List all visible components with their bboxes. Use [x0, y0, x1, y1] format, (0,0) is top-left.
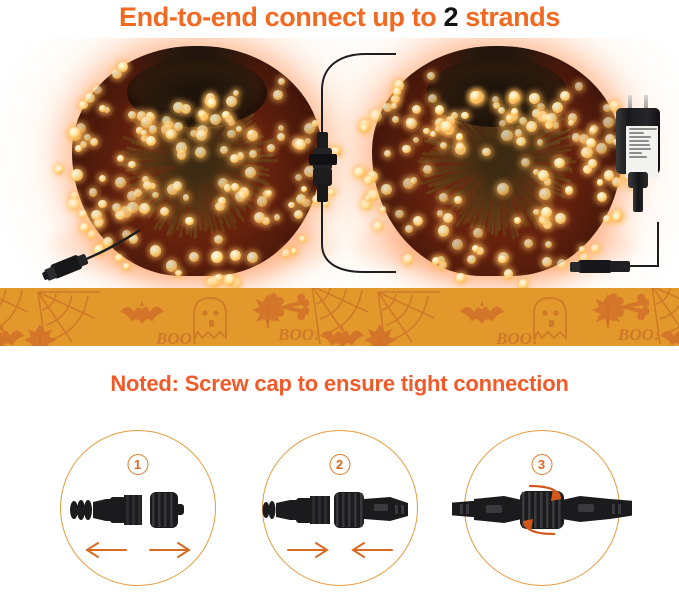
led-bulb: [173, 102, 184, 113]
wire-spike: [422, 152, 572, 171]
led-bulb: [515, 129, 523, 137]
led-bulb: [245, 167, 256, 178]
led-bulb: [91, 210, 102, 221]
led-bulb: [99, 105, 106, 112]
led-bulb: [211, 251, 223, 263]
led-bulb: [560, 91, 570, 101]
led-bulb: [173, 181, 183, 191]
led-bulb: [266, 190, 272, 196]
wire-spike: [421, 152, 572, 169]
connector-art-step-2: [250, 476, 430, 536]
led-bulb: [440, 142, 447, 149]
led-bulb: [413, 137, 420, 144]
led-bulb: [597, 179, 603, 185]
step-arrows-1: [48, 536, 228, 566]
led-bulb: [183, 194, 189, 200]
led-bulb: [432, 257, 440, 265]
led-bulb: [224, 274, 236, 286]
led-bulb: [456, 273, 466, 283]
led-bulb: [430, 131, 436, 137]
led-bulb: [215, 274, 223, 282]
headline-text-before: End-to-end connect up to: [119, 2, 443, 32]
led-bulb: [504, 269, 513, 278]
led-bulb: [545, 241, 552, 248]
adapter-label-line: [629, 148, 651, 150]
led-bulb: [146, 136, 156, 146]
led-bulb: [603, 104, 611, 112]
wire-spike: [418, 159, 576, 164]
led-bulb: [452, 239, 463, 250]
led-bulb: [402, 145, 411, 154]
led-bulb: [98, 200, 107, 209]
led-bulb: [291, 248, 298, 255]
steps-row: 1: [0, 424, 679, 592]
led-bulb: [514, 217, 521, 224]
led-bulb: [222, 111, 230, 119]
led-bulb: [526, 121, 537, 132]
led-bulb: [55, 165, 64, 174]
led-bulb: [537, 139, 543, 145]
led-bulb: [437, 210, 443, 216]
led-bulb: [470, 91, 480, 101]
led-bulb: [501, 130, 512, 141]
led-bulb: [175, 270, 181, 276]
adapter-label-line: [629, 156, 647, 158]
step-separate: 1: [48, 424, 228, 590]
led-bulb: [230, 250, 240, 260]
led-bulb: [189, 252, 199, 262]
led-bulb: [516, 137, 526, 147]
led-bulb: [533, 209, 539, 215]
led-bulb: [539, 188, 551, 200]
led-bulb: [160, 207, 170, 217]
led-bulb: [248, 130, 254, 136]
led-bulb: [90, 138, 98, 146]
led-bulb: [441, 121, 452, 132]
led-bulb: [552, 102, 563, 113]
led-bulb: [581, 147, 592, 158]
note-heading: Noted: Screw cap to ensure tight connect…: [0, 371, 679, 397]
led-bulb: [185, 217, 194, 226]
led-bulb: [575, 82, 583, 90]
led-bulb: [506, 115, 513, 122]
middle-connector: [300, 48, 400, 278]
led-bulb: [89, 188, 97, 196]
led-bulb: [403, 254, 414, 265]
adapter-tip: [633, 186, 643, 212]
led-bulb: [278, 125, 284, 131]
led-bulb: [435, 105, 445, 115]
led-bulb: [220, 146, 228, 154]
led-bulb: [511, 108, 519, 116]
led-bulb: [214, 235, 223, 244]
led-bulb: [541, 207, 552, 218]
headline-strand-count: 2: [444, 2, 459, 32]
led-bulb: [467, 255, 476, 264]
led-bulb: [247, 252, 258, 263]
led-bulb: [227, 130, 235, 138]
wire-spike: [421, 148, 573, 174]
led-bulb: [473, 228, 483, 238]
adapter-label-line: [629, 128, 657, 130]
wire-spike: [129, 139, 266, 182]
adapter-rating-label: [626, 126, 658, 178]
step-arrows-2: [250, 536, 430, 566]
wire-spike: [423, 145, 571, 177]
led-bulb: [149, 125, 157, 133]
led-bulb: [572, 133, 580, 141]
adapter-label-line: [629, 136, 651, 138]
led-bulb: [288, 202, 295, 209]
wire-spike: [433, 129, 561, 193]
led-bulb: [521, 158, 530, 167]
step-join: 2: [250, 424, 430, 590]
led-bulb: [143, 181, 152, 190]
adapter-brick: [616, 108, 660, 174]
wire-spike: [130, 140, 264, 182]
adapter-label-line: [629, 144, 650, 146]
led-bulb: [412, 105, 421, 114]
led-bulb: [589, 127, 596, 134]
led-bulb: [166, 260, 177, 271]
led-bulb: [93, 86, 101, 94]
led-bulb: [257, 196, 267, 206]
led-bulb: [406, 118, 417, 129]
led-bulb: [71, 169, 83, 181]
wire-spike: [420, 150, 574, 171]
led-bulb: [75, 145, 81, 151]
led-bulb: [218, 197, 226, 205]
end-plug-left: [40, 220, 150, 288]
power-adapter: [612, 96, 664, 196]
led-bulb: [127, 202, 139, 214]
wire-spike: [423, 148, 572, 174]
wire-spike: [439, 115, 554, 206]
led-bulb: [423, 165, 432, 174]
connector-art-step-3: [452, 476, 632, 536]
led-bulb: [235, 191, 246, 202]
product-infographic: End-to-end connect up to 2 strands: [0, 0, 679, 592]
wire-spike: [423, 157, 572, 166]
led-bulb: [274, 214, 281, 221]
led-bulb: [554, 158, 565, 169]
adapter-label-line: [629, 132, 644, 134]
led-bulb: [226, 96, 237, 107]
led-bulb: [597, 192, 608, 203]
wire-spike: [419, 157, 575, 165]
led-bulb: [438, 225, 450, 237]
led-bulb: [413, 216, 423, 226]
led-bulb: [519, 117, 527, 125]
connector-art-step-1: [48, 476, 228, 536]
led-bulb: [456, 142, 465, 151]
wire-spike: [124, 159, 271, 164]
led-bulb: [128, 161, 136, 169]
step-badge-1: 1: [127, 454, 148, 475]
led-bulb: [236, 126, 242, 132]
led-bulb: [555, 213, 565, 223]
hero-image: [0, 38, 679, 288]
step-tighten: 3: [452, 424, 632, 590]
wire-spike: [116, 160, 278, 163]
led-bulb: [79, 210, 87, 218]
led-bulb: [588, 159, 597, 168]
led-bulb: [443, 213, 453, 223]
step-badge-2: 2: [329, 454, 350, 475]
led-bulb: [166, 129, 176, 139]
led-bulb: [68, 198, 80, 210]
led-bulb: [273, 90, 283, 100]
wire-spike: [417, 159, 577, 163]
led-bulb: [99, 175, 106, 182]
led-bulb: [423, 128, 429, 134]
led-bulb: [249, 150, 257, 158]
led-bulb: [509, 91, 519, 101]
led-bulb: [454, 196, 462, 204]
led-bulb: [529, 93, 540, 104]
led-bulb: [210, 114, 221, 125]
led-bulb: [267, 144, 275, 152]
led-bulb: [152, 192, 159, 199]
led-bulb: [586, 138, 596, 148]
led-bulb: [84, 134, 91, 141]
led-bulb: [497, 183, 508, 194]
led-bulb: [405, 225, 413, 233]
page-title: End-to-end connect up to 2 strands: [0, 2, 679, 33]
led-bulb: [278, 78, 285, 85]
led-bulb: [596, 143, 607, 154]
led-bulb: [231, 183, 239, 191]
led-bulb: [115, 177, 127, 189]
led-bulb: [69, 127, 81, 139]
led-bulb: [568, 120, 575, 127]
led-bulb: [439, 193, 448, 202]
led-bulb: [128, 111, 137, 120]
adapter-label-line: [629, 152, 642, 154]
led-bulb: [472, 245, 479, 252]
led-bulb: [118, 62, 128, 72]
strand-plug-right: [566, 216, 676, 280]
led-bulb: [127, 191, 137, 201]
led-bulb: [230, 154, 239, 163]
wire-spike: [429, 149, 566, 172]
led-bulb: [150, 245, 161, 256]
led-bulb: [85, 93, 95, 103]
led-bulb: [519, 279, 528, 288]
led-bulb: [174, 122, 183, 131]
led-bulb: [207, 98, 216, 107]
halloween-pattern-band: BOO!: [0, 288, 679, 346]
led-bulb: [524, 239, 533, 248]
led-bulb: [482, 148, 490, 156]
led-bulb: [411, 177, 417, 183]
headline-text-after: strands: [458, 2, 560, 32]
led-bulb: [565, 186, 573, 194]
led-bulb: [456, 133, 463, 140]
step-badge-3: 3: [531, 454, 552, 475]
step-arrows-3: [452, 536, 632, 566]
led-bulb: [277, 133, 285, 141]
wire-spike: [432, 154, 562, 169]
led-bulb: [139, 203, 150, 214]
wire-spike: [125, 157, 270, 166]
adapter-label-line: [629, 140, 649, 142]
led-bulb: [117, 155, 124, 162]
led-bulb: [196, 130, 207, 141]
led-bulb: [195, 147, 207, 159]
led-bulb: [538, 170, 549, 181]
led-bulb: [461, 112, 468, 119]
led-bulb: [176, 142, 187, 153]
led-bulb: [498, 252, 509, 263]
led-bulb: [542, 257, 552, 267]
